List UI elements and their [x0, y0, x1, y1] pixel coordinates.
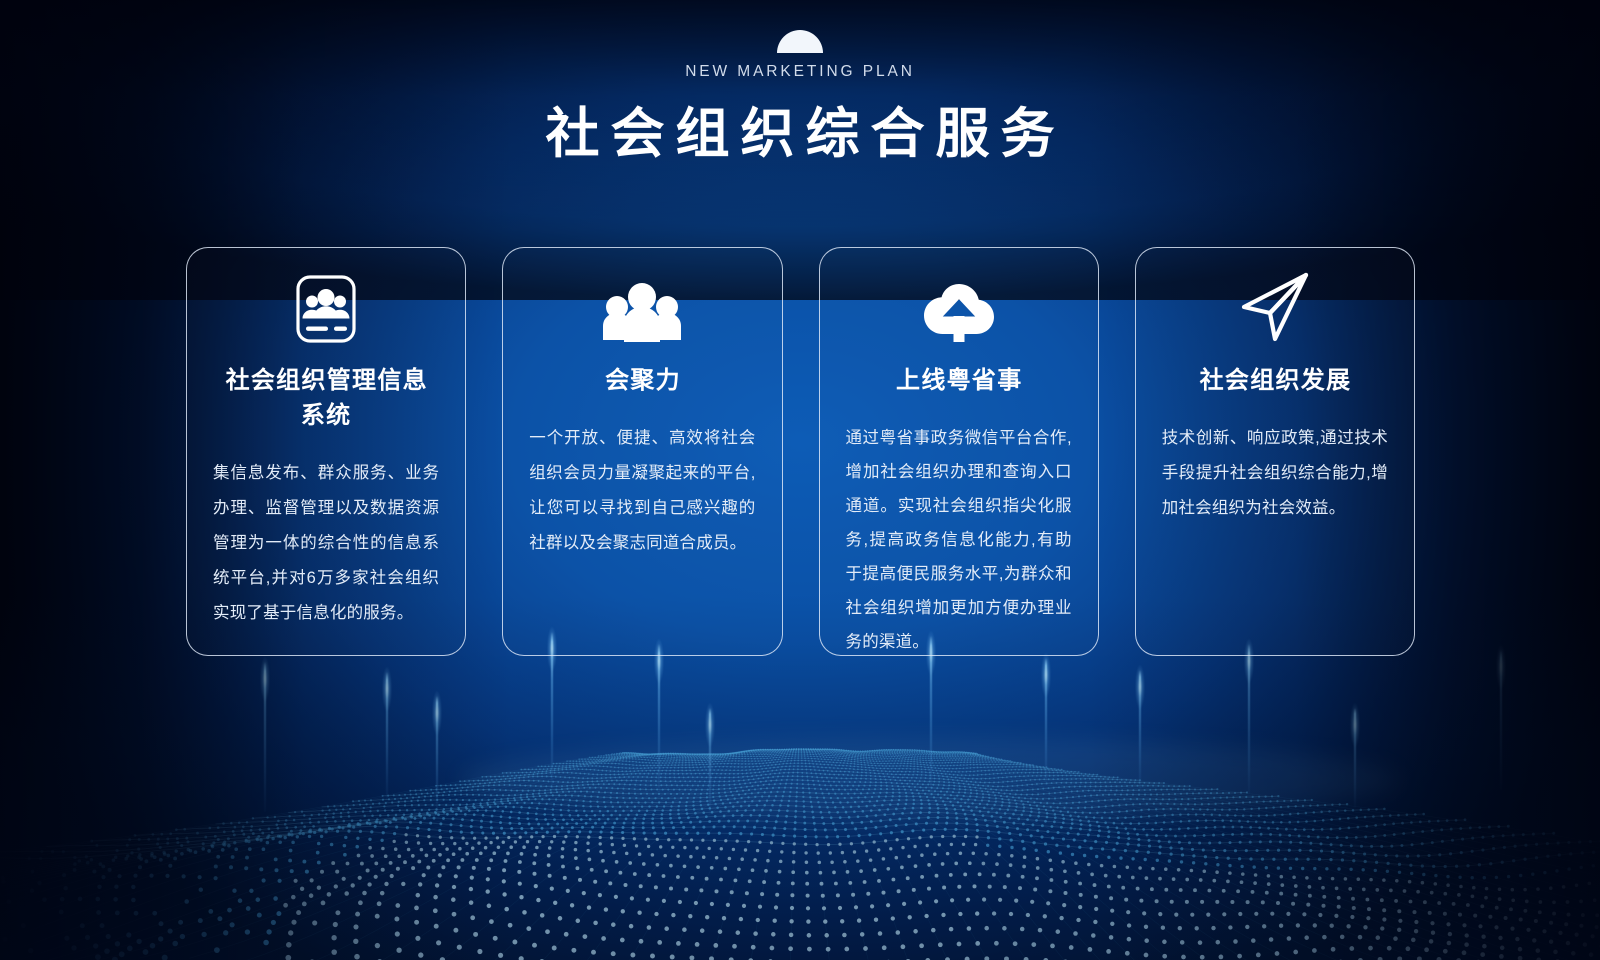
card-title: 上线粤省事 — [846, 360, 1072, 395]
card-title: 社会组织发展 — [1162, 360, 1388, 395]
kicker-text: NEW MARKETING PLAN — [0, 63, 1600, 81]
card-title: 会聚力 — [529, 360, 755, 395]
id-card-people-icon — [213, 248, 439, 348]
page-title: 社会组织综合服务 — [0, 107, 1600, 161]
card-body: 集信息发布、群众服务、业务办理、监督管理以及数据资源管理为一体的综合性的信息系统… — [213, 456, 439, 631]
card-body: 通过粤省事政务微信平台合作,增加社会组织办理和查询入口通道。实现社会组织指尖化服… — [846, 421, 1072, 659]
people-group-icon — [529, 248, 755, 348]
card-title: 社会组织管理信息系统 — [213, 360, 439, 430]
header: NEW MARKETING PLAN 社会组织综合服务 — [0, 30, 1600, 161]
card-row: 社会组织管理信息系统 集信息发布、群众服务、业务办理、监督管理以及数据资源管理为… — [186, 247, 1415, 656]
card-social-org-info-system[interactable]: 社会组织管理信息系统 集信息发布、群众服务、业务办理、监督管理以及数据资源管理为… — [186, 247, 466, 656]
paper-plane-icon — [1162, 248, 1388, 348]
card-social-org-development[interactable]: 社会组织发展 技术创新、响应政策,通过技术手段提升社会组织综合能力,增加社会组织… — [1135, 247, 1415, 656]
card-body: 技术创新、响应政策,通过技术手段提升社会组织综合能力,增加社会组织为社会效益。 — [1162, 421, 1388, 526]
cloud-upload-icon — [846, 248, 1072, 348]
card-hui-ju-li[interactable]: 会聚力 一个开放、便捷、高效将社会组织会员力量凝聚起来的平台,让您可以寻找到自己… — [502, 247, 782, 656]
card-yue-sheng-shi[interactable]: 上线粤省事 通过粤省事政务微信平台合作,增加社会组织办理和查询入口通道。实现社会… — [819, 247, 1099, 656]
dome-shape-icon — [777, 30, 823, 53]
slide-canvas: NEW MARKETING PLAN 社会组织综合服务 社会组织管理信息系统 — [0, 0, 1600, 960]
card-body: 一个开放、便捷、高效将社会组织会员力量凝聚起来的平台,让您可以寻找到自己感兴趣的… — [529, 421, 755, 561]
